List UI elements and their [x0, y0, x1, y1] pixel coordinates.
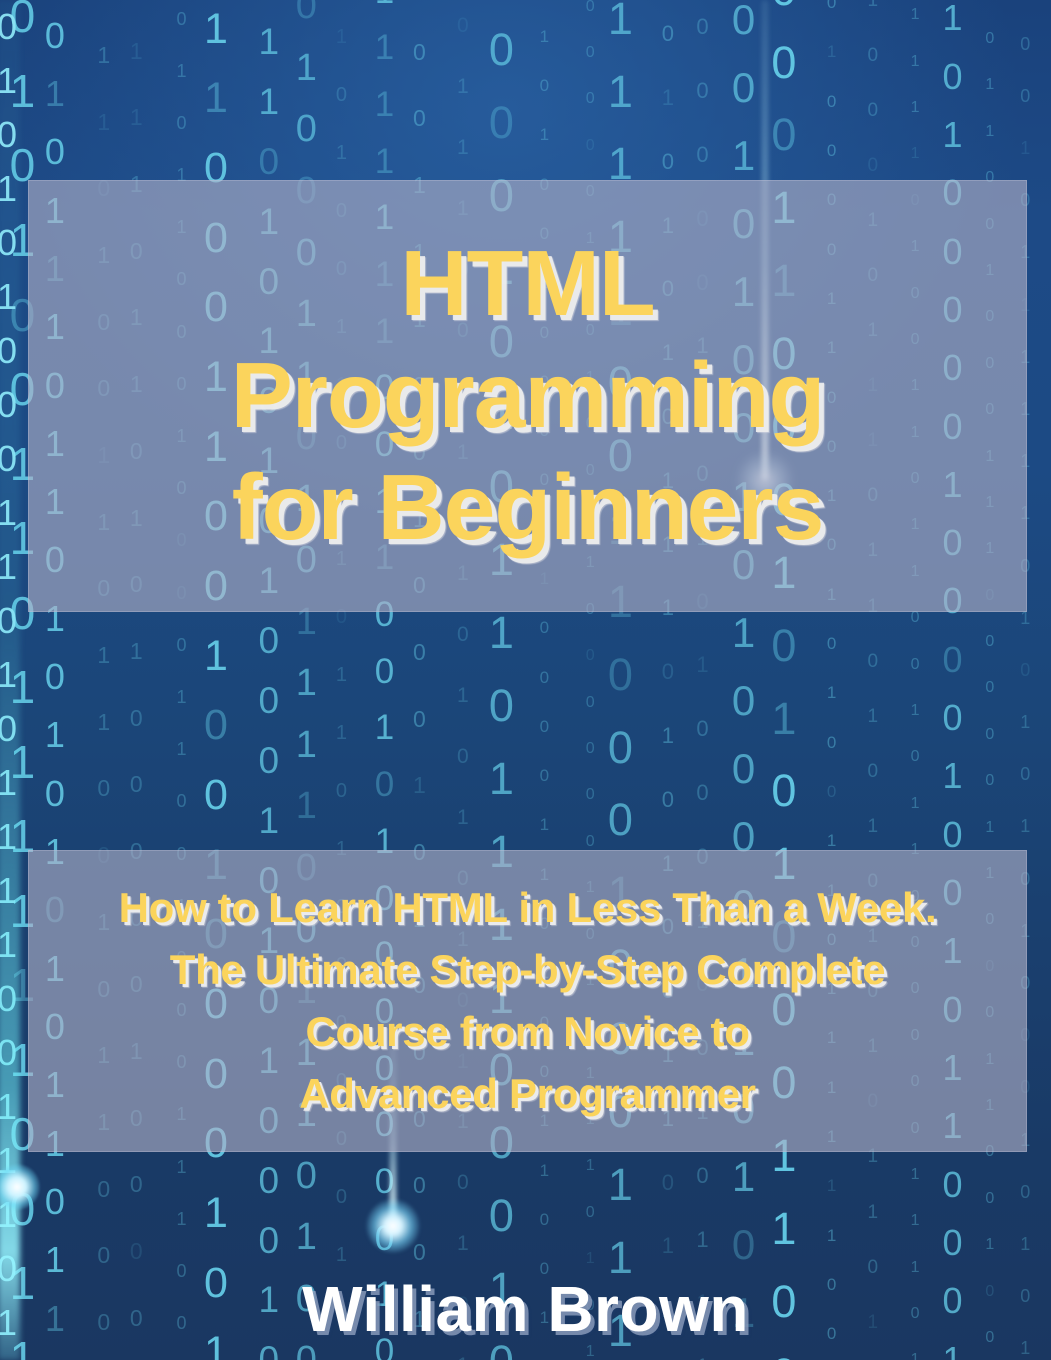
title-line-1: HTML [400, 229, 654, 339]
subtitle-line-4: Advanced Programmer [299, 1063, 755, 1125]
book-cover: 0101001101111110011100010111011010101010… [0, 0, 1051, 1360]
subtitle-line-3: Course from Novice to [305, 1001, 749, 1063]
binary-column-bright-edge: 01010100011010111100111010 [0, 0, 20, 1360]
subtitle-line-1: How to Learn HTML in Less Than a Week. [119, 877, 937, 939]
book-title: HTML Programming for Beginners [28, 180, 1027, 612]
book-subtitle: How to Learn HTML in Less Than a Week. T… [28, 850, 1027, 1152]
author-name: William Brown [0, 1272, 1051, 1346]
title-line-3: for Beginners [232, 453, 824, 563]
subtitle-line-2: The Ultimate Step-by-Step Complete [170, 939, 886, 1001]
title-line-2: Programming [231, 341, 825, 451]
